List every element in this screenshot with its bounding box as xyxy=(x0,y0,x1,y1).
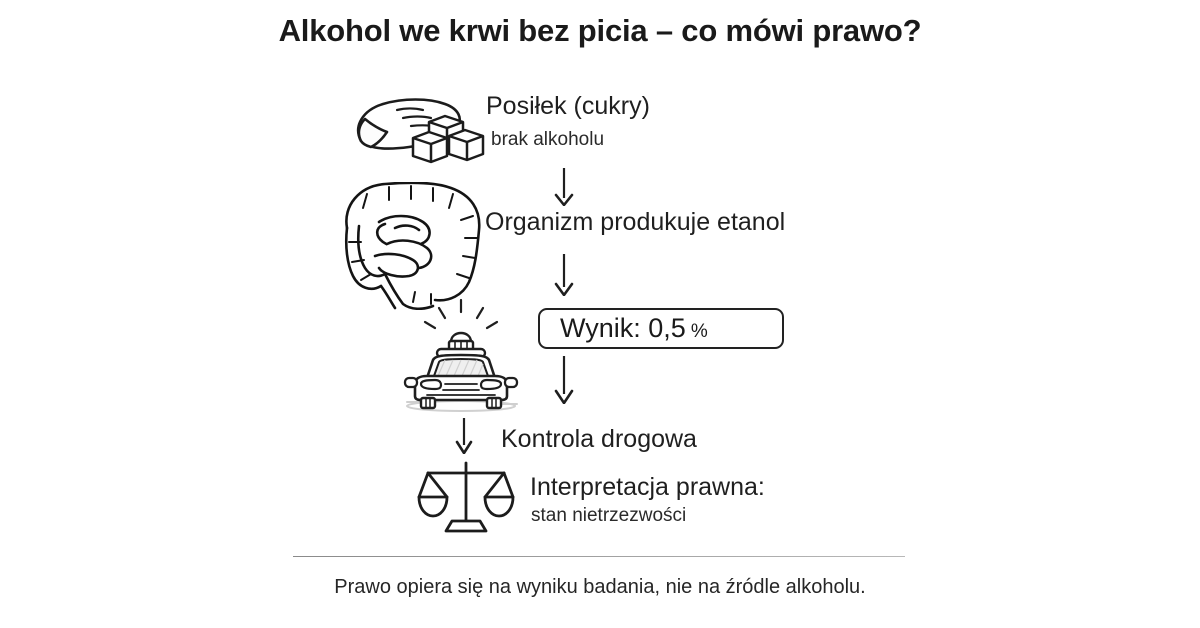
step-3-title: Kontrola drogowa xyxy=(501,425,697,454)
step-4-subtitle: stan nietrzezwości xyxy=(531,505,686,527)
page-title: Alkohol we krwi bez picia – co mówi praw… xyxy=(0,13,1200,49)
result-text: Wynik: 0,5% xyxy=(560,313,708,344)
arrow-down-icon xyxy=(552,254,576,296)
police-car-icon xyxy=(393,298,529,416)
step-2-title: Organizm produkuje etanol xyxy=(485,208,785,237)
intestines-icon xyxy=(333,182,485,310)
arrow-down-icon xyxy=(552,168,576,206)
arrow-down-icon xyxy=(452,418,476,454)
infographic-canvas: Alkohol we krwi bez picia – co mówi praw… xyxy=(0,0,1200,628)
result-value: 0,5 xyxy=(648,313,686,343)
result-label: Wynik: xyxy=(560,313,641,343)
step-4-title: Interpretacja prawna: xyxy=(530,473,765,502)
result-unit: % xyxy=(691,321,708,342)
arrow-down-icon xyxy=(552,356,576,404)
footer-divider xyxy=(293,556,905,557)
bread-and-sugar-cubes-icon xyxy=(337,86,487,174)
footer-note: Prawo opiera się na wyniku badania, nie … xyxy=(0,576,1200,599)
balance-scales-icon xyxy=(416,459,516,535)
step-1-title: Posiłek (cukry) xyxy=(486,92,650,121)
step-1-subtitle: brak alkoholu xyxy=(491,129,604,151)
